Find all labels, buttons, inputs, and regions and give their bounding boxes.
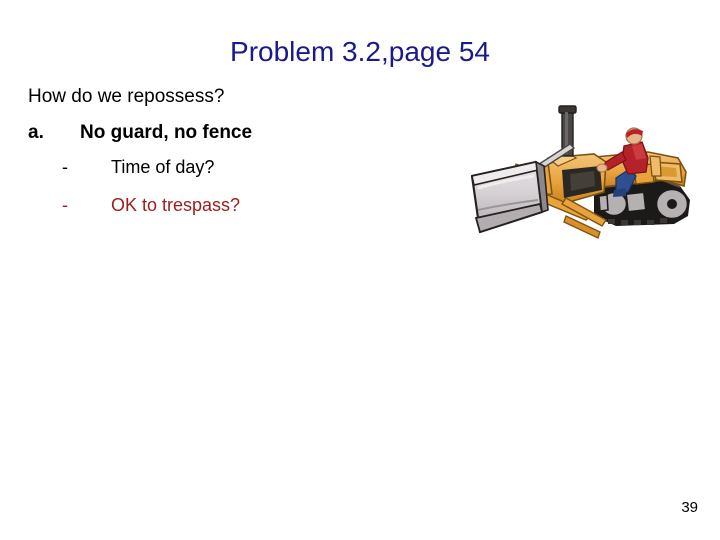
page-number: 39: [681, 499, 698, 516]
bullet-text: Time of day?: [111, 157, 214, 178]
bullet-list: How do we repossess? a. No guard, no fen…: [0, 86, 470, 233]
list-item: - Time of day?: [0, 157, 470, 178]
list-item: How do we repossess?: [0, 86, 470, 108]
dozer-blade: [472, 162, 548, 232]
bullet-marker: -: [62, 195, 111, 216]
bullet-marker: a.: [28, 122, 80, 144]
bulldozer-image: [466, 100, 706, 248]
bullet-text: OK to trespass?: [111, 195, 240, 216]
list-item: - OK to trespass?: [0, 195, 470, 216]
slide-canvas: Problem 3.2,page 54 How do we repossess?…: [0, 0, 720, 540]
bullet-marker: -: [62, 157, 111, 178]
bullet-text: How do we repossess?: [28, 86, 224, 108]
page-title: Problem 3.2,page 54: [0, 36, 720, 68]
list-item: a. No guard, no fence: [0, 122, 470, 144]
bullet-text: No guard, no fence: [80, 122, 252, 144]
